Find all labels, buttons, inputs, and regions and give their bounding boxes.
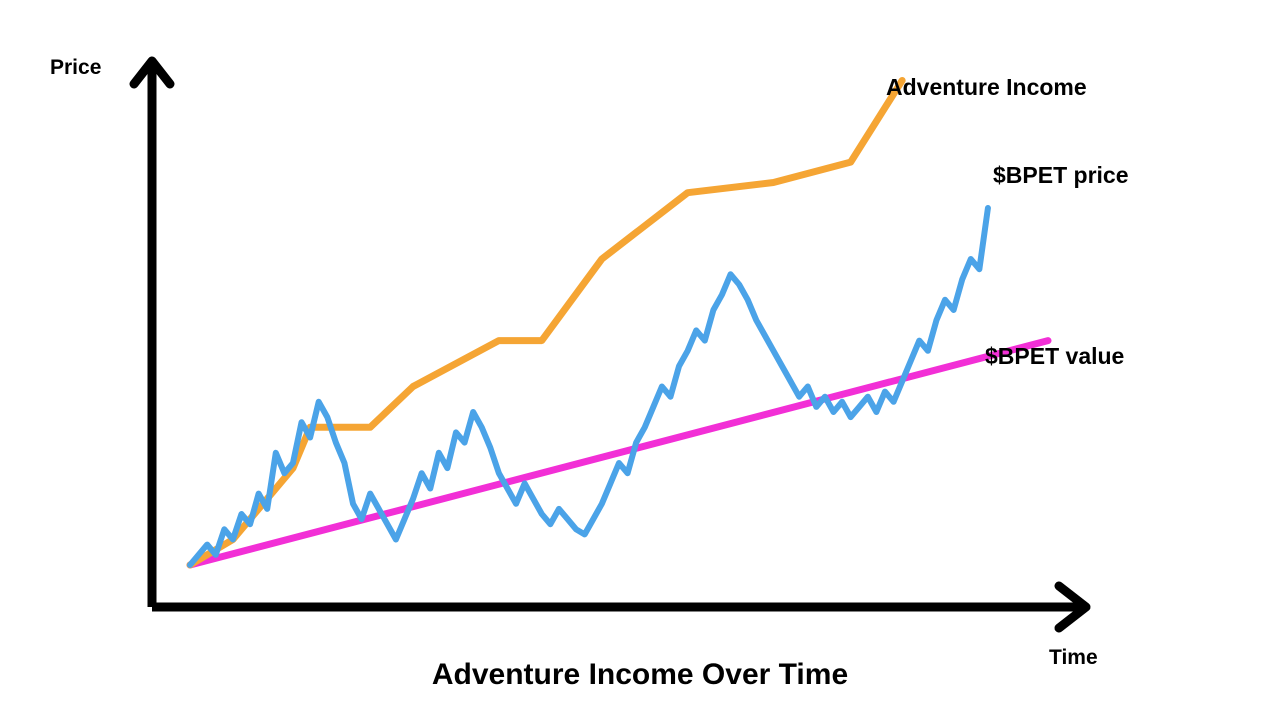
series-line-adventure-income bbox=[190, 81, 902, 566]
series-label-bpet-price: $BPET price bbox=[993, 164, 1129, 187]
series-label-bpet-value: $BPET value bbox=[985, 345, 1124, 368]
chart-container: Price Time Adventure Income $BPET price … bbox=[0, 0, 1280, 720]
y-axis-label: Price bbox=[50, 57, 101, 78]
series-label-adventure-income: Adventure Income bbox=[886, 76, 1087, 99]
series-line-bpet-value bbox=[190, 341, 1048, 565]
chart-title: Adventure Income Over Time bbox=[0, 660, 1280, 690]
series-group bbox=[190, 81, 1048, 566]
